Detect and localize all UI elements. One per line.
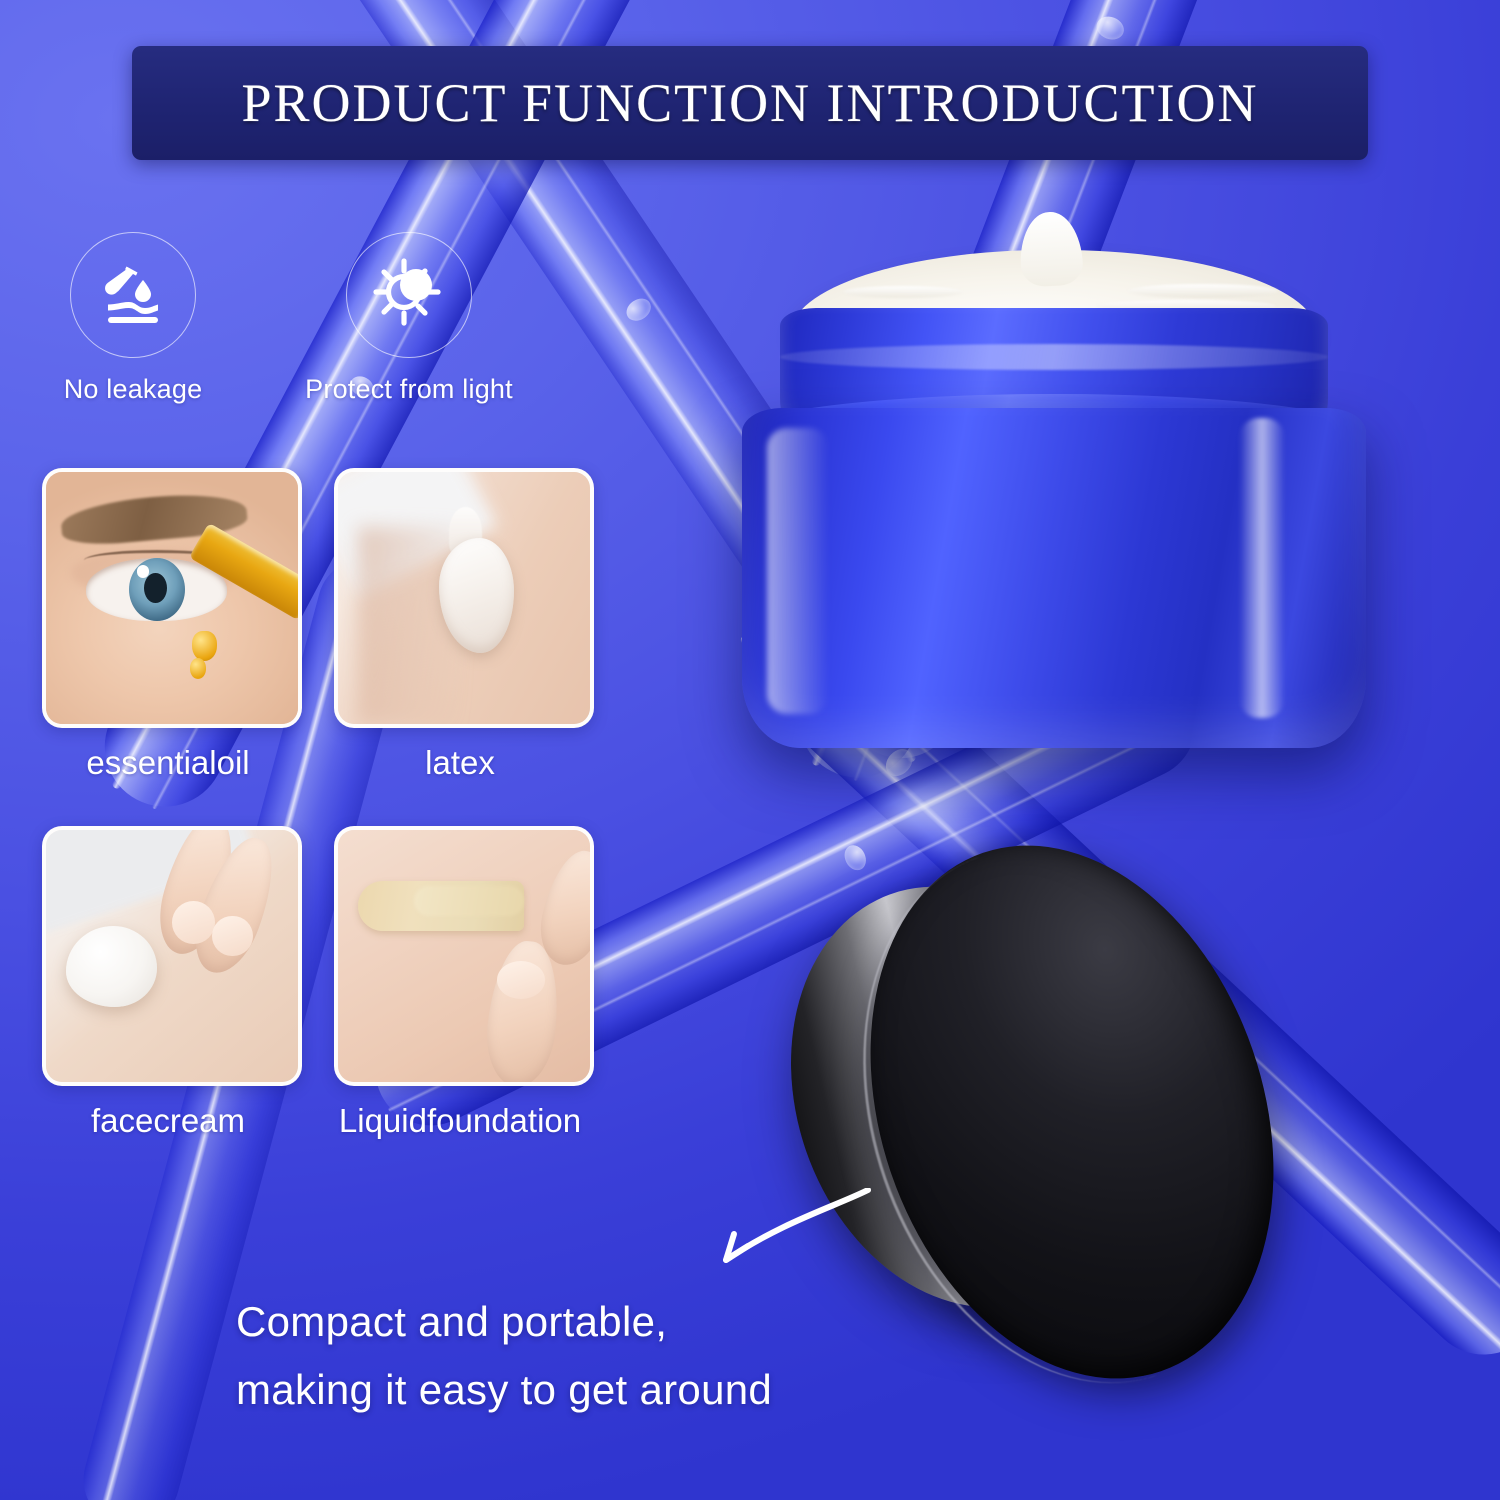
usage-cell-liquid-foundation[interactable]: Liquidfoundation (334, 826, 594, 1140)
cream-on-neck-photo (338, 472, 590, 724)
usage-label: latex (334, 744, 586, 782)
usage-label: facecream (42, 1102, 294, 1140)
usage-label: essentialoil (42, 744, 294, 782)
feature-badges: No leakage (48, 232, 494, 405)
protect-from-light-icon (370, 256, 448, 334)
title-banner: PRODUCT FUNCTION INTRODUCTION (132, 46, 1368, 160)
page-title: PRODUCT FUNCTION INTRODUCTION (241, 72, 1258, 134)
feature-no-leakage: No leakage (48, 232, 218, 405)
caption-line-2: making it easy to get around (236, 1356, 936, 1424)
usage-thumbnail[interactable] (334, 826, 594, 1086)
usage-thumbnail[interactable] (334, 468, 594, 728)
jar-thread-line (780, 344, 1328, 370)
usage-cell-latex[interactable]: latex (334, 468, 594, 782)
grid-row: facecream Liquidfoundation (42, 826, 594, 1140)
product-jar (724, 248, 1384, 788)
grid-row: essentialoil latex (42, 468, 594, 782)
white-cream-dollop-on-arm-photo (46, 830, 298, 1082)
feature-label: No leakage (64, 374, 203, 405)
cream-peak (1018, 210, 1084, 287)
feature-icon-ring (70, 232, 196, 358)
usage-thumbnail[interactable] (42, 826, 302, 1086)
eye-serum-dropper-photo (46, 472, 298, 724)
beige-foundation-swatch-photo (338, 830, 590, 1082)
usage-cell-essential-oil[interactable]: essentialoil (42, 468, 302, 782)
feature-icon-ring (346, 232, 472, 358)
feature-label: Protect from light (305, 374, 513, 405)
caption-line-1: Compact and portable, (236, 1288, 936, 1356)
usage-thumbnail[interactable] (42, 468, 302, 728)
caption-block: Compact and portable, making it easy to … (236, 1288, 936, 1424)
no-leakage-icon (96, 258, 170, 332)
usage-label: Liquidfoundation (334, 1102, 586, 1140)
jar-highlight (1239, 418, 1285, 718)
feature-protect-from-light: Protect from light (324, 232, 494, 405)
usage-cell-face-cream[interactable]: facecream (42, 826, 302, 1140)
usage-thumbnail-grid: essentialoil latex (42, 468, 594, 1141)
product-infographic-canvas: PRODUCT FUNCTION INTRODUCTION No leakage (0, 0, 1500, 1500)
